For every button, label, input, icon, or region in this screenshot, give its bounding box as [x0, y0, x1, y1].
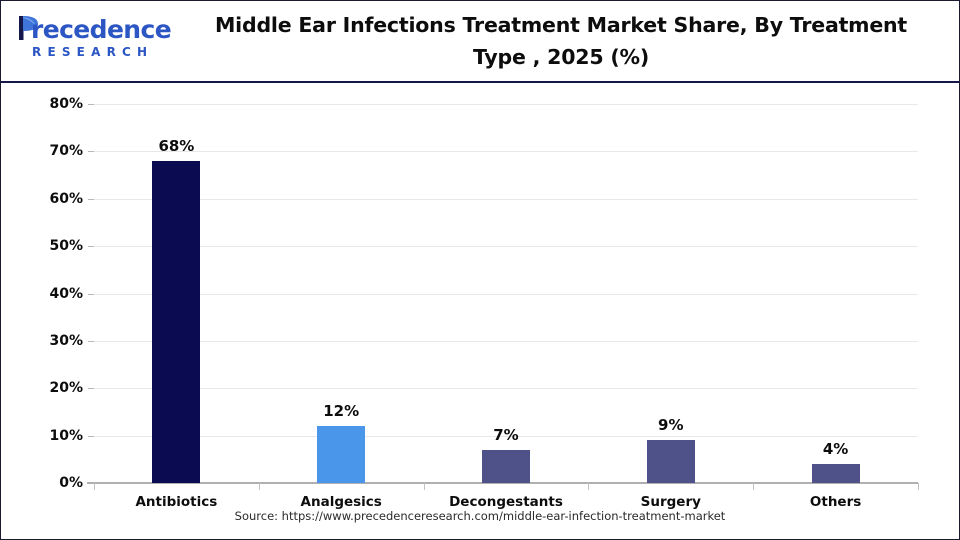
page-title: Middle Ear Infections Treatment Market S…	[191, 9, 931, 73]
y-axis-label: 30%	[49, 333, 83, 349]
precedence-research-logo: recedence RESEARCH	[15, 15, 175, 69]
bar-value-label: 9%	[658, 416, 683, 434]
x-axis-tick	[259, 483, 260, 490]
y-axis-label: 40%	[49, 286, 83, 302]
y-axis-label: 80%	[49, 96, 83, 112]
x-axis-tick	[94, 483, 95, 490]
bar-value-label: 7%	[493, 426, 518, 444]
bar-group[interactable]: 4%Others	[753, 104, 918, 483]
bar[interactable]	[482, 450, 530, 483]
bar[interactable]	[152, 161, 200, 483]
x-axis-tick	[588, 483, 589, 490]
x-axis-tick	[918, 483, 919, 490]
y-axis-label: 20%	[49, 380, 83, 396]
x-axis-category-label: Others	[810, 494, 861, 510]
x-axis-category-label: Analgesics	[301, 494, 382, 510]
x-axis-category-label: Decongestants	[449, 494, 563, 510]
chart-plot-area: 0%10%20%30%40%50%60%70%80% 68%Antibiotic…	[94, 104, 918, 483]
x-axis-tick	[753, 483, 754, 490]
x-axis-category-label: Antibiotics	[135, 494, 217, 510]
bar[interactable]	[317, 426, 365, 483]
bar[interactable]	[647, 440, 695, 483]
chart-page: recedence RESEARCH Middle Ear Infections…	[0, 0, 960, 540]
bar-group[interactable]: 68%Antibiotics	[94, 104, 259, 483]
bar-group[interactable]: 12%Analgesics	[259, 104, 424, 483]
y-axis-label: 0%	[59, 475, 83, 491]
chart-plot-wrapper: 0%10%20%30%40%50%60%70%80% 68%Antibiotic…	[1, 83, 959, 539]
y-axis-label: 10%	[49, 428, 83, 444]
y-axis-label: 50%	[49, 238, 83, 254]
y-axis-label: 70%	[49, 143, 83, 159]
bar-value-label: 12%	[323, 402, 359, 420]
x-axis-tick	[424, 483, 425, 490]
y-axis-label: 60%	[49, 191, 83, 207]
bar-group[interactable]: 9%Surgery	[588, 104, 753, 483]
source-note: Source: https://www.precedenceresearch.c…	[1, 509, 959, 523]
logo-subtext: RESEARCH	[32, 45, 153, 59]
bar-value-label: 68%	[158, 137, 194, 155]
bar-group[interactable]: 7%Decongestants	[424, 104, 589, 483]
x-axis-category-label: Surgery	[641, 494, 701, 510]
bar[interactable]	[812, 464, 860, 483]
chart-header: recedence RESEARCH Middle Ear Infections…	[1, 1, 959, 83]
logo-wordmark: recedence	[31, 15, 171, 45]
bar-value-label: 4%	[823, 440, 848, 458]
